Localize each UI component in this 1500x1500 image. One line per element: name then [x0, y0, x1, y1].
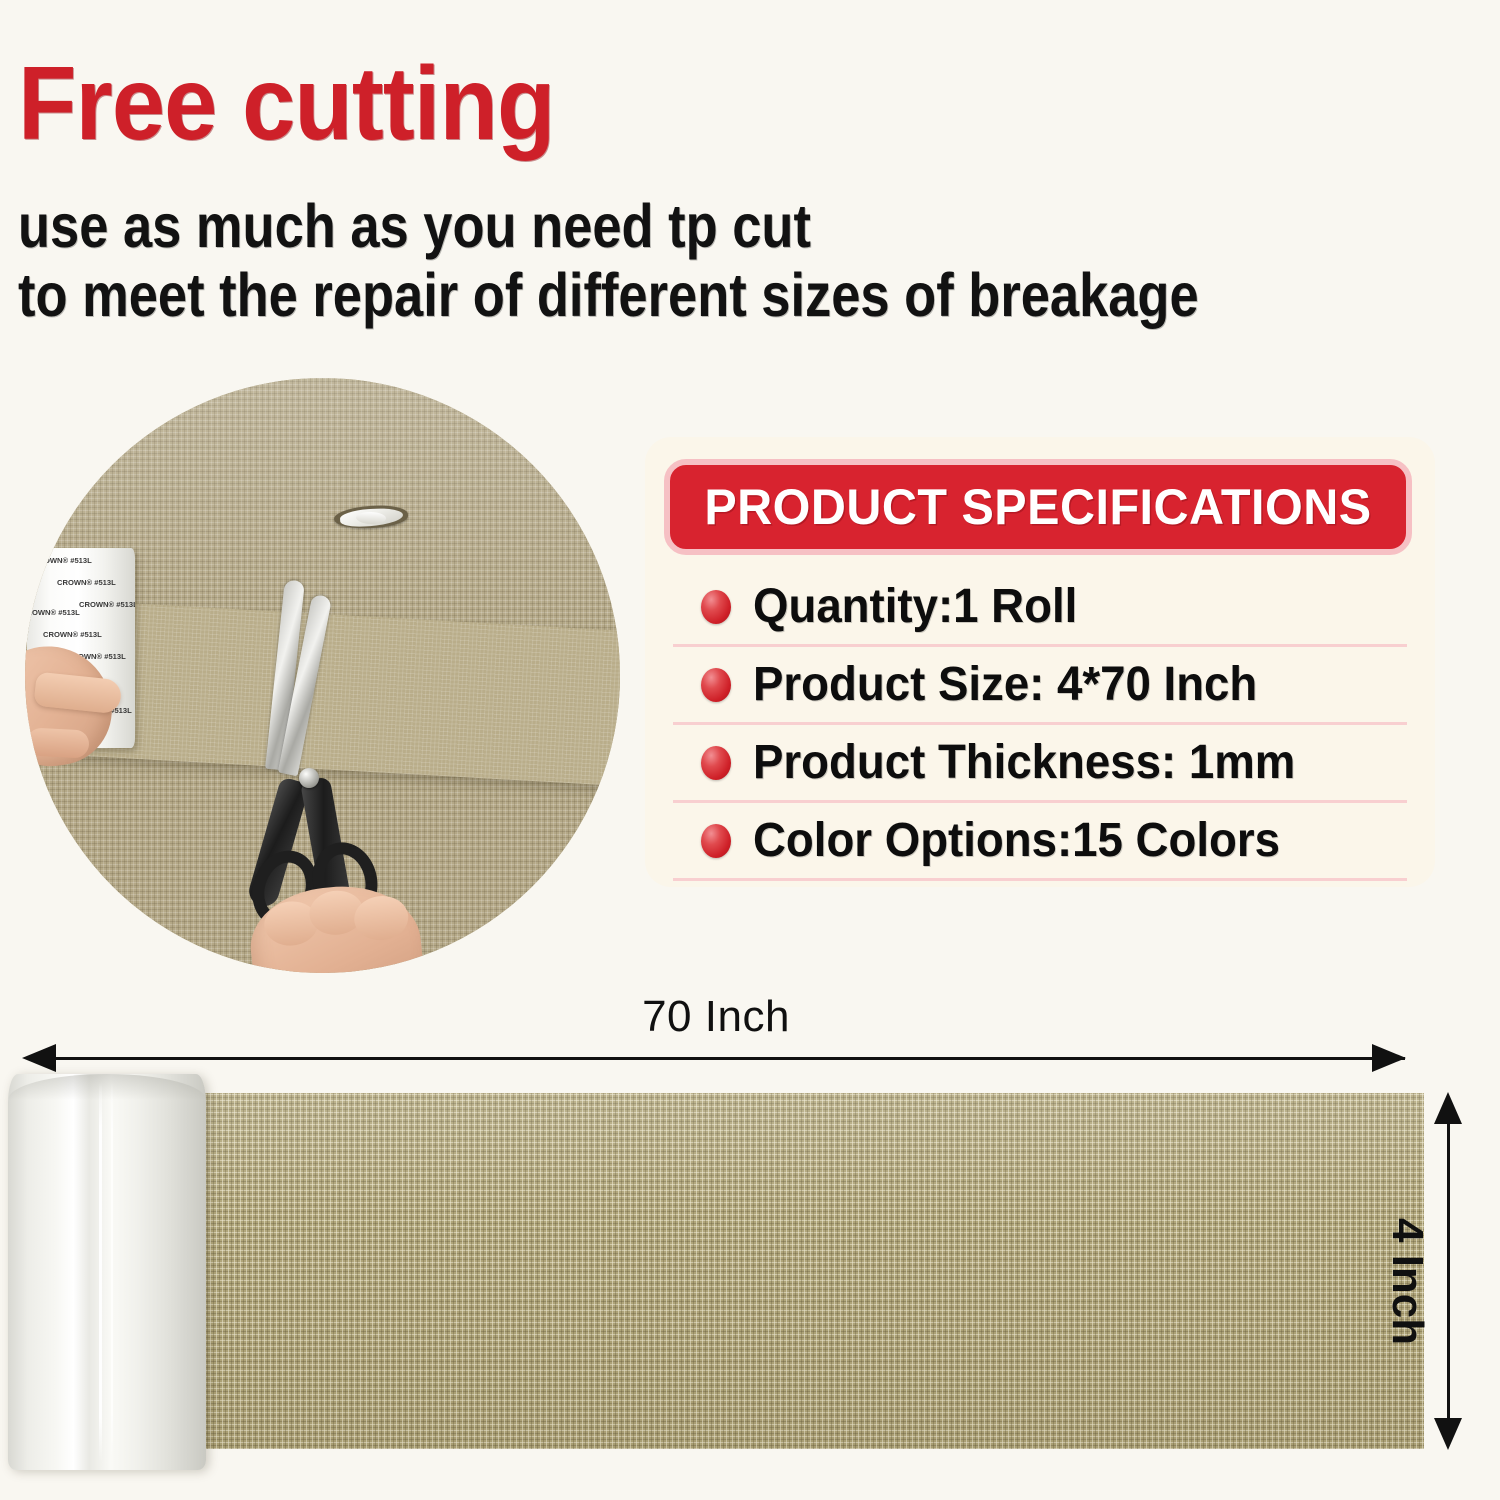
width-dimension-line	[1447, 1105, 1450, 1440]
roll-label-text: CROWN® #513L	[43, 630, 102, 639]
arrow-down-icon	[1434, 1418, 1462, 1450]
length-dimension-label: 70 Inch	[0, 992, 1432, 1042]
subtitle-line-2: to meet the repair of different sizes of…	[18, 265, 1199, 326]
spec-header-banner: PRODUCT SPECIFICATIONS	[664, 459, 1412, 555]
spec-item-label: Product Thickness: 1mm	[753, 735, 1295, 790]
spec-row: Product Size: 4*70 Inch	[673, 647, 1407, 725]
arrow-up-icon	[1434, 1092, 1462, 1124]
roll-label-text: CROWN® #513L	[27, 608, 80, 617]
strip-sheen	[198, 1093, 1424, 1449]
roll-label-text: CROWN® #513L	[79, 600, 135, 609]
arrow-right-icon	[1372, 1044, 1406, 1072]
roll-label-text: CROWN® #513L	[33, 556, 92, 565]
product-infographic: Free cutting use as much as you need tp …	[0, 0, 1500, 1500]
finger	[26, 727, 89, 758]
length-dimension-line	[30, 1057, 1405, 1060]
spec-item-label: Product Size: 4*70 Inch	[753, 657, 1257, 712]
spec-row: Color Options:15 Colors	[673, 803, 1407, 881]
width-dimension-label: 4 Inch	[1382, 1218, 1432, 1345]
roll-top-cap	[8, 1074, 206, 1100]
arrow-left-icon	[22, 1044, 56, 1072]
roll-highlight	[111, 1082, 113, 1462]
product-roll	[8, 1074, 206, 1470]
demo-photo-circle: CROWN® #513L CROWN® #513L CROWN® #513L C…	[25, 378, 620, 973]
page-title: Free cutting	[18, 52, 555, 156]
product-fabric-strip	[198, 1093, 1424, 1449]
scissors	[239, 580, 439, 910]
bullet-icon	[701, 590, 731, 624]
spec-item-label: Quantity:1 Roll	[753, 579, 1077, 634]
product-specifications-panel: PRODUCT SPECIFICATIONS Quantity:1 Roll P…	[645, 437, 1435, 887]
spec-header-title: PRODUCT SPECIFICATIONS	[704, 478, 1371, 536]
roll-label-text: CROWN® #513L	[57, 578, 116, 587]
subtitle-line-1: use as much as you need tp cut	[18, 196, 811, 257]
photo-content: CROWN® #513L CROWN® #513L CROWN® #513L C…	[25, 378, 620, 973]
spec-list: Quantity:1 Roll Product Size: 4*70 Inch …	[673, 569, 1407, 881]
bullet-icon	[701, 824, 731, 858]
spec-row: Quantity:1 Roll	[673, 569, 1407, 647]
spec-row: Product Thickness: 1mm	[673, 725, 1407, 803]
bullet-icon	[701, 668, 731, 702]
bullet-icon	[701, 746, 731, 780]
spec-item-label: Color Options:15 Colors	[753, 813, 1280, 868]
roll-highlight	[99, 1082, 102, 1462]
